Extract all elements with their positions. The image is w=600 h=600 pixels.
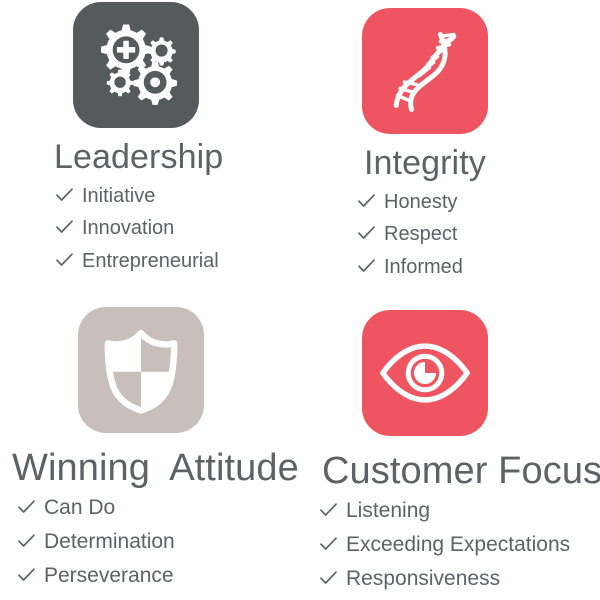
value-card-integrity: Integrity Honesty Respect Informed xyxy=(300,0,600,300)
check-mark-icon xyxy=(358,190,384,208)
check-mark-icon xyxy=(18,564,44,582)
value-card-customer-focus: Customer Focus Listening Exceeding Expec… xyxy=(300,300,600,600)
check-mark-icon xyxy=(320,499,346,517)
eye-icon xyxy=(377,325,473,421)
list-item: Perseverance xyxy=(18,559,300,593)
list-item-label: Can Do xyxy=(44,491,115,525)
page-title-customer-focus: Customer Focus xyxy=(322,452,600,490)
checklist-integrity: Honesty Respect Informed xyxy=(358,186,600,283)
list-item-label: Listening xyxy=(346,494,430,528)
winning-attitude-icon-tile xyxy=(78,307,204,433)
gears-icon xyxy=(90,19,182,111)
customer-focus-icon-tile xyxy=(362,310,488,436)
core-values-grid: Leadership Initiative Innovation Entrepr… xyxy=(0,0,600,600)
list-item: Determination xyxy=(18,525,300,559)
list-item-label: Honesty xyxy=(384,186,457,218)
check-mark-icon xyxy=(56,216,82,234)
list-item: Entrepreneurial xyxy=(56,245,300,277)
list-item: Innovation xyxy=(56,212,300,244)
list-item-label: Determination xyxy=(44,525,175,559)
list-item-label: Informed xyxy=(384,251,463,283)
page-title-integrity: Integrity xyxy=(364,146,600,180)
check-mark-icon xyxy=(18,496,44,514)
value-card-winning-attitude: Winning Attitude Can Do Determination Pe… xyxy=(0,300,300,600)
list-item: Exceeding Expectations xyxy=(320,528,600,562)
page-title-leadership: Leadership xyxy=(54,140,300,174)
list-item-label: Innovation xyxy=(82,212,174,244)
check-mark-icon xyxy=(320,567,346,585)
list-item-label: Initiative xyxy=(82,180,155,212)
check-mark-icon xyxy=(56,184,82,202)
shield-icon xyxy=(95,324,187,416)
check-mark-icon xyxy=(320,533,346,551)
check-mark-icon xyxy=(56,249,82,267)
list-item: Listening xyxy=(320,494,600,528)
checklist-customer-focus: Listening Exceeding Expectations Respons… xyxy=(320,494,600,596)
checklist-winning-attitude: Can Do Determination Perseverance xyxy=(18,491,300,593)
check-mark-icon xyxy=(358,222,384,240)
checklist-leadership: Initiative Innovation Entrepreneurial xyxy=(56,180,300,277)
list-item: Informed xyxy=(358,251,600,283)
check-mark-icon xyxy=(18,530,44,548)
integrity-icon-tile xyxy=(362,8,488,134)
check-mark-icon xyxy=(358,255,384,273)
leadership-icon-tile xyxy=(73,2,199,128)
list-item: Respect xyxy=(358,218,600,250)
dna-helix-icon xyxy=(377,23,473,119)
list-item-label: Exceeding Expectations xyxy=(346,528,570,562)
list-item: Initiative xyxy=(56,180,300,212)
page-title-winning-attitude: Winning Attitude xyxy=(12,449,300,487)
value-card-leadership: Leadership Initiative Innovation Entrepr… xyxy=(0,0,300,300)
list-item-label: Responsiveness xyxy=(346,562,500,596)
list-item-label: Entrepreneurial xyxy=(82,245,219,277)
list-item: Honesty xyxy=(358,186,600,218)
list-item-label: Respect xyxy=(384,218,457,250)
list-item-label: Perseverance xyxy=(44,559,174,593)
list-item: Responsiveness xyxy=(320,562,600,596)
list-item: Can Do xyxy=(18,491,300,525)
